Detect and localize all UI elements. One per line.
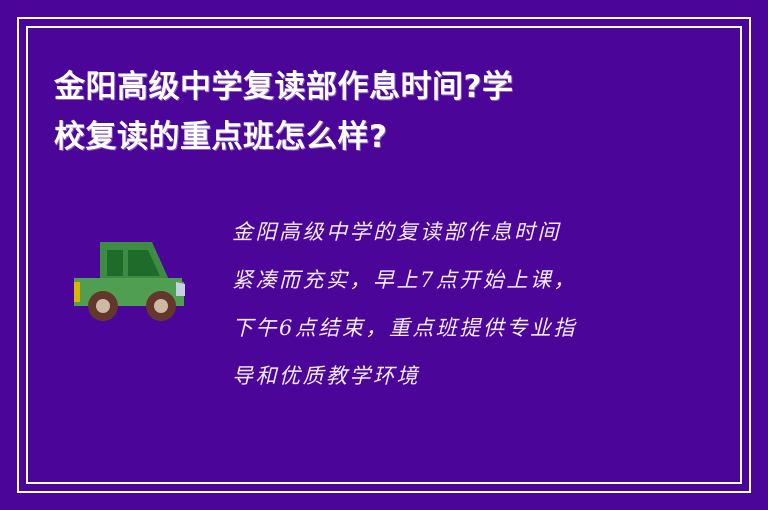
headline-line-1: 金阳高级中学复读部作息时间?学 bbox=[54, 62, 614, 112]
body-paragraph: 金阳高级中学的复读部作息时间 紧凑而充实，早上7点开始上课， 下午6点结束，重点… bbox=[232, 208, 662, 400]
body-line-4: 导和优质教学环境 bbox=[232, 352, 662, 400]
headline-line-2: 校复读的重点班怎么样? bbox=[54, 112, 614, 162]
poster-canvas: 金阳高级中学复读部作息时间?学 校复读的重点班怎么样? 金阳高级中学的复读部作息… bbox=[0, 0, 768, 510]
truck-svg bbox=[72, 238, 196, 324]
body-line-3: 下午6点结束，重点班提供专业指 bbox=[232, 304, 662, 352]
truck-taillight bbox=[74, 282, 80, 302]
truck-rear-window bbox=[107, 250, 123, 276]
headline-title: 金阳高级中学复读部作息时间?学 校复读的重点班怎么样? bbox=[54, 62, 614, 162]
truck-headlight bbox=[176, 282, 185, 296]
body-line-1: 金阳高级中学的复读部作息时间 bbox=[232, 208, 662, 256]
truck-rear-hub bbox=[96, 299, 110, 313]
truck-front-hub bbox=[154, 299, 168, 313]
body-line-2: 紧凑而充实，早上7点开始上课， bbox=[232, 256, 662, 304]
green-pickup-truck-illustration bbox=[72, 238, 196, 329]
